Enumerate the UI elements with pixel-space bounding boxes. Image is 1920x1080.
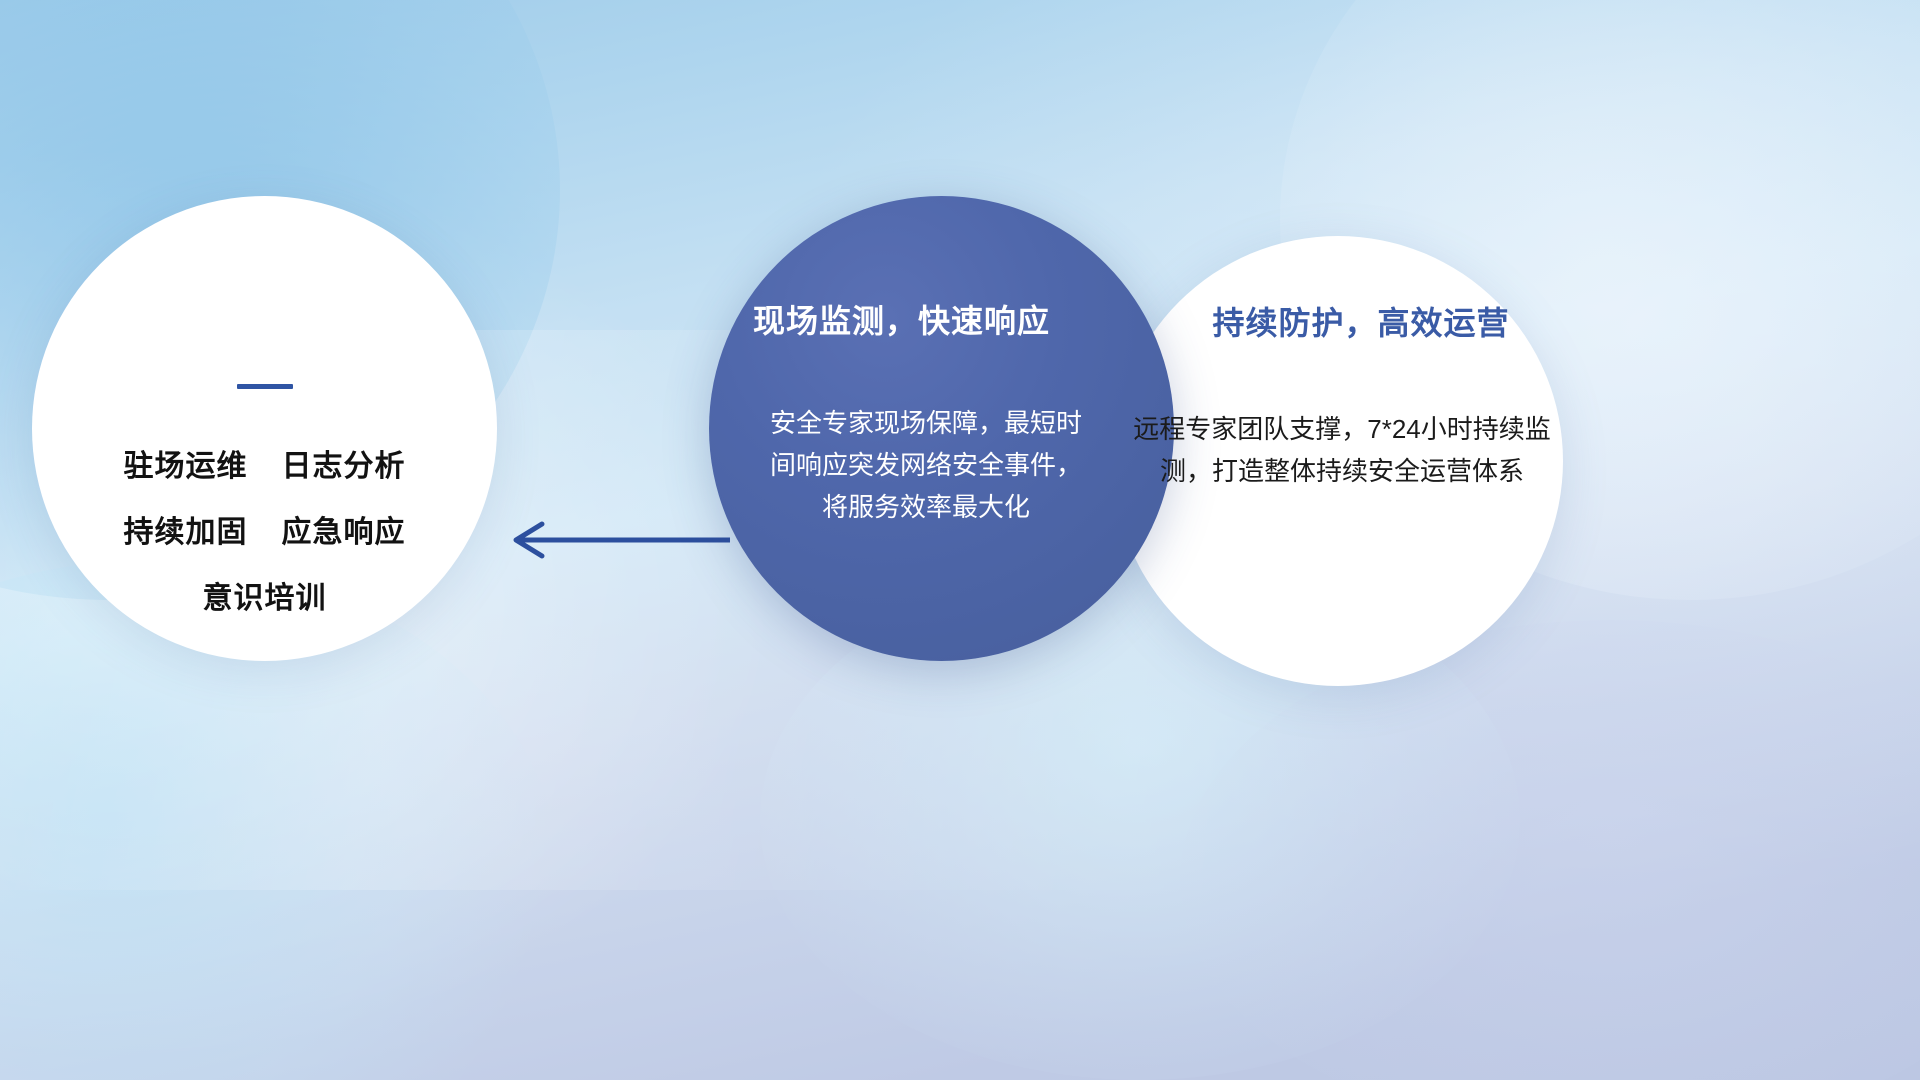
right-operations-circle[interactable] [1113,236,1563,686]
tag-row: 意识培训 [32,573,497,617]
left-capability-circle[interactable]: 驻场运维 日志分析 持续加固 应急响应 意识培训 [32,196,497,661]
slide-canvas: 驻场运维 日志分析 持续加固 应急响应 意识培训 现场监测，快速响应 安全专家现… [0,0,1920,1080]
background-blob-bottom-right [1180,620,1920,1080]
capability-tag: 日志分析 [282,441,406,485]
capability-tag: 驻场运维 [124,441,248,485]
tag-row: 驻场运维 日志分析 [32,441,497,485]
left-circle-content: 驻场运维 日志分析 持续加固 应急响应 意识培训 [32,384,497,639]
capability-tag: 持续加固 [124,507,248,551]
capability-tag: 意识培训 [203,573,327,617]
tag-row: 持续加固 应急响应 [32,507,497,551]
connector-arrow [480,516,730,564]
horizontal-dash-divider-icon [237,384,293,389]
capability-tag: 应急响应 [282,507,406,551]
left-arrow-icon [480,516,730,564]
middle-monitoring-circle[interactable] [709,196,1174,661]
